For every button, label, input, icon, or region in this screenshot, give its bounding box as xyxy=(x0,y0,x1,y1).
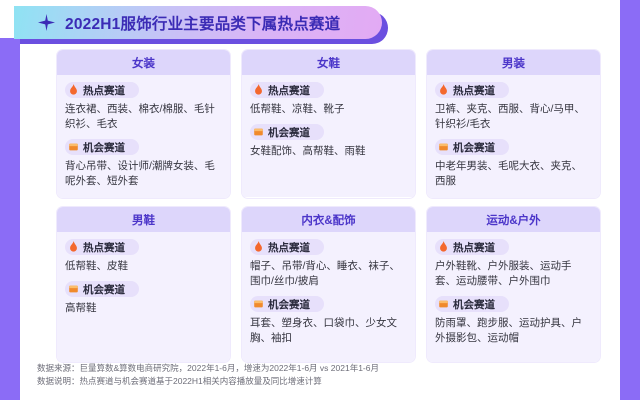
flame-icon xyxy=(253,241,264,253)
card-title: 内衣&配饰 xyxy=(301,212,355,228)
left-accent-bar xyxy=(0,38,20,400)
opportunity-track-badge: 机会赛道 xyxy=(435,139,509,155)
card-body: 热点赛道 连衣裙、西装、棉衣/棉服、毛针织衫、毛衣 机会赛道 背心吊带、设计师/… xyxy=(57,75,230,198)
hot-track-label: 热点赛道 xyxy=(83,240,125,255)
flame-icon xyxy=(68,241,79,253)
card-header: 内衣&配饰 xyxy=(242,207,415,232)
card-title: 女装 xyxy=(132,55,155,71)
opportunity-track-label: 机会赛道 xyxy=(83,282,125,297)
opportunity-track-badge: 机会赛道 xyxy=(250,124,324,140)
category-card-grid: 女装 热点赛道 连衣裙、西装、棉衣/棉服、毛针织衫、毛衣 机会赛道 xyxy=(57,50,602,362)
card-body: 热点赛道 低帮鞋、凉鞋、靴子 机会赛道 女鞋配饰、高帮鞋、雨鞋 xyxy=(242,75,415,197)
opportunity-track-list: 背心吊带、设计师/潮牌女装、毛呢外套、短外套 xyxy=(65,159,222,189)
card-title: 男装 xyxy=(502,55,525,71)
hot-track-list: 连衣裙、西装、棉衣/棉服、毛针织衫、毛衣 xyxy=(65,102,222,132)
hot-track-list: 低帮鞋、凉鞋、靴子 xyxy=(250,102,407,117)
page-title: 2022H1服饰行业主要品类下属热点赛道 xyxy=(65,12,340,34)
hot-track-label: 热点赛道 xyxy=(83,83,125,98)
opportunity-track-list: 防雨罩、跑步服、运动护具、户外摄影包、运动帽 xyxy=(435,316,592,346)
rocket-icon xyxy=(253,126,264,138)
opportunity-track-badge: 机会赛道 xyxy=(65,139,139,155)
card-title: 运动&户外 xyxy=(486,212,540,228)
card-body: 热点赛道 户外鞋靴、户外服装、运动手套、运动腰带、户外围巾 机会赛道 防雨罩、跑… xyxy=(427,232,600,362)
rocket-icon xyxy=(68,141,79,153)
hot-track-list: 卫裤、夹克、西服、背心/马甲、针织衫/毛衣 xyxy=(435,102,592,132)
hot-track-badge: 热点赛道 xyxy=(435,239,509,255)
card-title: 男鞋 xyxy=(132,212,155,228)
card-sports-outdoor[interactable]: 运动&户外 热点赛道 户外鞋靴、户外服装、运动手套、运动腰带、户外围巾 机会赛道 xyxy=(427,207,600,362)
infographic-page: 2022H1服饰行业主要品类下属热点赛道 女装 热点赛道 连衣裙、西装、棉衣/棉… xyxy=(0,0,640,400)
card-mens-shoes[interactable]: 男鞋 热点赛道 低帮鞋、皮鞋 机会赛道 高帮鞋 xyxy=(57,207,230,362)
opportunity-track-label: 机会赛道 xyxy=(268,297,310,312)
opportunity-track-list: 高帮鞋 xyxy=(65,301,222,316)
hot-track-badge: 热点赛道 xyxy=(65,82,139,98)
data-source-line: 数据来源：巨量算数&算数电商研究院，2022年1-6月，增速为2022年1-6月… xyxy=(37,362,597,375)
card-mens-apparel[interactable]: 男装 热点赛道 卫裤、夹克、西服、背心/马甲、针织衫/毛衣 机会赛道 xyxy=(427,50,600,198)
footnotes: 数据来源：巨量算数&算数电商研究院，2022年1-6月，增速为2022年1-6月… xyxy=(37,362,597,387)
hot-track-label: 热点赛道 xyxy=(453,240,495,255)
hot-track-list: 帽子、吊带/背心、睡衣、袜子、围巾/丝巾/披肩 xyxy=(250,259,407,289)
opportunity-track-label: 机会赛道 xyxy=(453,140,495,155)
rocket-icon xyxy=(253,298,264,310)
opportunity-track-badge: 机会赛道 xyxy=(65,281,139,297)
card-body: 热点赛道 卫裤、夹克、西服、背心/马甲、针织衫/毛衣 机会赛道 中老年男装、毛呢… xyxy=(427,75,600,198)
card-body: 热点赛道 低帮鞋、皮鞋 机会赛道 高帮鞋 xyxy=(57,232,230,362)
card-header: 男鞋 xyxy=(57,207,230,232)
card-body: 热点赛道 帽子、吊带/背心、睡衣、袜子、围巾/丝巾/披肩 机会赛道 耳套、塑身衣… xyxy=(242,232,415,362)
sparkle-icon xyxy=(38,14,55,31)
flame-icon xyxy=(438,241,449,253)
hot-track-label: 热点赛道 xyxy=(268,240,310,255)
card-womens-apparel[interactable]: 女装 热点赛道 连衣裙、西装、棉衣/棉服、毛针织衫、毛衣 机会赛道 xyxy=(57,50,230,198)
opportunity-track-badge: 机会赛道 xyxy=(435,296,509,312)
rocket-icon xyxy=(438,298,449,310)
flame-icon xyxy=(438,84,449,96)
flame-icon xyxy=(253,84,264,96)
card-title: 女鞋 xyxy=(317,55,340,71)
flame-icon xyxy=(68,84,79,96)
hot-track-label: 热点赛道 xyxy=(453,83,495,98)
card-womens-shoes[interactable]: 女鞋 热点赛道 低帮鞋、凉鞋、靴子 机会赛道 女鞋配饰、高帮鞋 xyxy=(242,50,415,198)
hot-track-badge: 热点赛道 xyxy=(65,239,139,255)
card-header: 男装 xyxy=(427,50,600,75)
opportunity-track-label: 机会赛道 xyxy=(83,140,125,155)
card-header: 女装 xyxy=(57,50,230,75)
opportunity-track-label: 机会赛道 xyxy=(268,125,310,140)
hot-track-badge: 热点赛道 xyxy=(250,239,324,255)
hot-track-list: 户外鞋靴、户外服装、运动手套、运动腰带、户外围巾 xyxy=(435,259,592,289)
data-note-line: 数据说明：热点赛道与机会赛道基于2022H1相关内容播放量及同比增速计算 xyxy=(37,375,597,388)
card-header: 运动&户外 xyxy=(427,207,600,232)
hot-track-label: 热点赛道 xyxy=(268,83,310,98)
opportunity-track-label: 机会赛道 xyxy=(453,297,495,312)
card-header: 女鞋 xyxy=(242,50,415,75)
hot-track-list: 低帮鞋、皮鞋 xyxy=(65,259,222,274)
opportunity-track-badge: 机会赛道 xyxy=(250,296,324,312)
right-accent-bar xyxy=(620,0,640,400)
card-underwear-accessories[interactable]: 内衣&配饰 热点赛道 帽子、吊带/背心、睡衣、袜子、围巾/丝巾/披肩 机会赛道 xyxy=(242,207,415,362)
opportunity-track-list: 女鞋配饰、高帮鞋、雨鞋 xyxy=(250,144,407,159)
opportunity-track-list: 中老年男装、毛呢大衣、夹克、西服 xyxy=(435,159,592,189)
rocket-icon xyxy=(68,283,79,295)
hot-track-badge: 热点赛道 xyxy=(435,82,509,98)
header-pill: 2022H1服饰行业主要品类下属热点赛道 xyxy=(14,6,382,39)
hot-track-badge: 热点赛道 xyxy=(250,82,324,98)
opportunity-track-list: 耳套、塑身衣、口袋巾、少女文胸、袖扣 xyxy=(250,316,407,346)
rocket-icon xyxy=(438,141,449,153)
header-banner: 2022H1服饰行业主要品类下属热点赛道 xyxy=(14,6,382,40)
